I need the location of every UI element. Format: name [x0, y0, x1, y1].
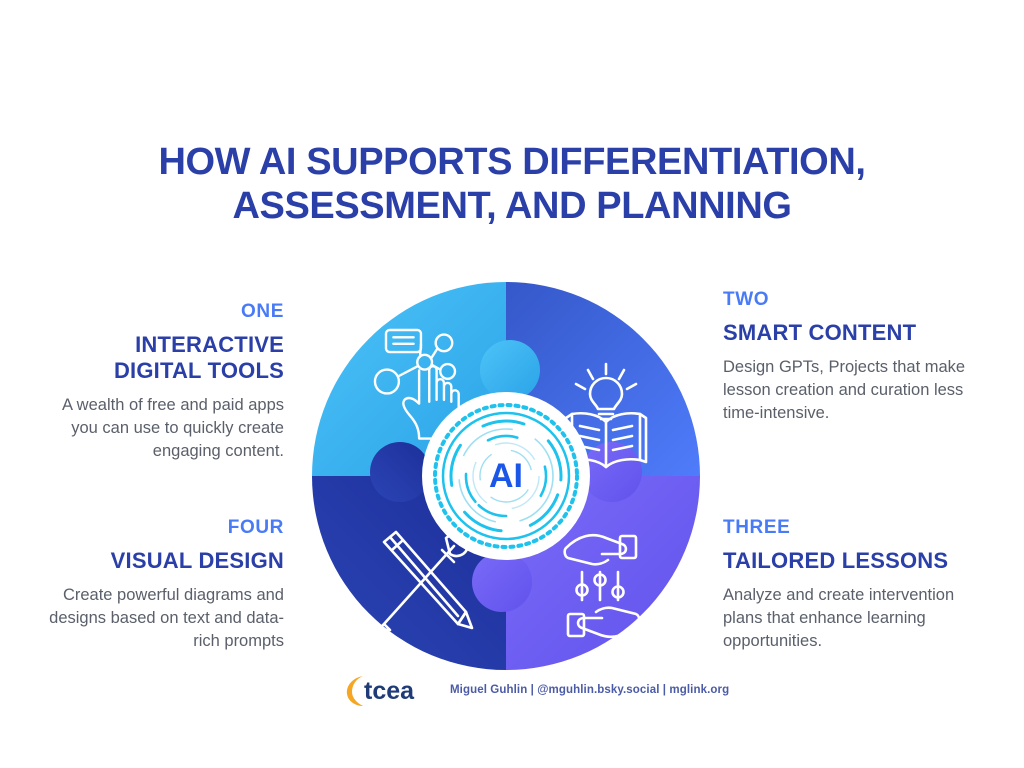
info-block-four: FOUR VISUAL DESIGN Create powerful diagr… [42, 516, 284, 653]
block-four-number: FOUR [42, 516, 284, 540]
block-one-body: A wealth of free and paid apps you can u… [42, 394, 284, 463]
tcea-swoosh-icon [347, 676, 363, 706]
footer-attribution: tcea Miguel Guhlin | @mguhlin.bsky.socia… [346, 672, 729, 708]
center-ai-label: AI [489, 457, 523, 495]
page-title-line-1: HOW AI SUPPORTS DIFFERENTIATION, [0, 140, 1024, 184]
block-three-number: THREE [723, 516, 985, 540]
block-two-heading: SMART CONTENT [723, 320, 985, 346]
puzzle-wheel-diagram: AI [312, 282, 700, 670]
tcea-logo-text: tcea [364, 677, 415, 705]
info-block-one: ONE INTERACTIVE DIGITAL TOOLS A wealth o… [42, 300, 284, 463]
block-two-number: TWO [723, 288, 985, 312]
block-one-number: ONE [42, 300, 284, 324]
center-ai-hub: AI [422, 392, 590, 560]
block-two-body: Design GPTs, Projects that make lesson c… [723, 356, 985, 425]
block-four-body: Create powerful diagrams and designs bas… [42, 584, 284, 653]
info-block-three: THREE TAILORED LESSONS Analyze and creat… [723, 516, 985, 653]
block-one-heading: INTERACTIVE DIGITAL TOOLS [42, 332, 284, 384]
block-four-heading: VISUAL DESIGN [42, 548, 284, 574]
tcea-logo: tcea [346, 673, 438, 707]
page-title-line-2: ASSESSMENT, AND PLANNING [0, 184, 1024, 228]
credit-text: Miguel Guhlin | @mguhlin.bsky.social | m… [450, 684, 729, 696]
block-three-heading: TAILORED LESSONS [723, 548, 985, 574]
block-three-body: Analyze and create intervention plans th… [723, 584, 985, 653]
page-title: HOW AI SUPPORTS DIFFERENTIATION, ASSESSM… [0, 140, 1024, 228]
info-block-two: TWO SMART CONTENT Design GPTs, Projects … [723, 288, 985, 425]
